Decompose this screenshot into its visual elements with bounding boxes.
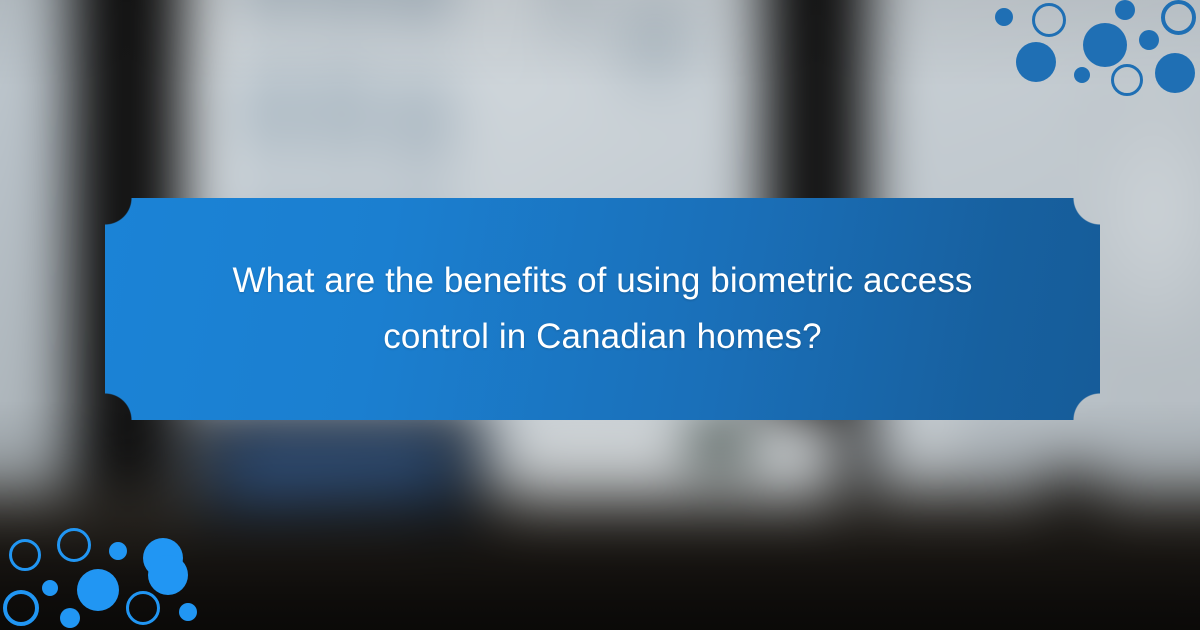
bg-far-frame <box>552 0 584 40</box>
bg-slat <box>389 0 449 22</box>
bg-window-pane-left <box>0 0 71 493</box>
bg-slat <box>315 59 371 162</box>
bg-mug <box>1043 472 1102 526</box>
share-card: What are the benefits of using biometric… <box>0 0 1200 630</box>
bg-right-glow <box>1086 83 1200 407</box>
headline-banner: What are the benefits of using biometric… <box>105 198 1100 420</box>
bg-slat <box>317 0 373 18</box>
headline-text-container: What are the benefits of using biometric… <box>105 198 1100 420</box>
bg-slat <box>244 0 300 18</box>
bg-slat <box>241 59 297 162</box>
bg-slat <box>393 74 449 169</box>
bg-far-frame <box>622 0 687 83</box>
headline-text: What are the benefits of using biometric… <box>223 253 983 365</box>
bg-plant <box>686 418 751 467</box>
bg-desk-front <box>0 532 1200 630</box>
